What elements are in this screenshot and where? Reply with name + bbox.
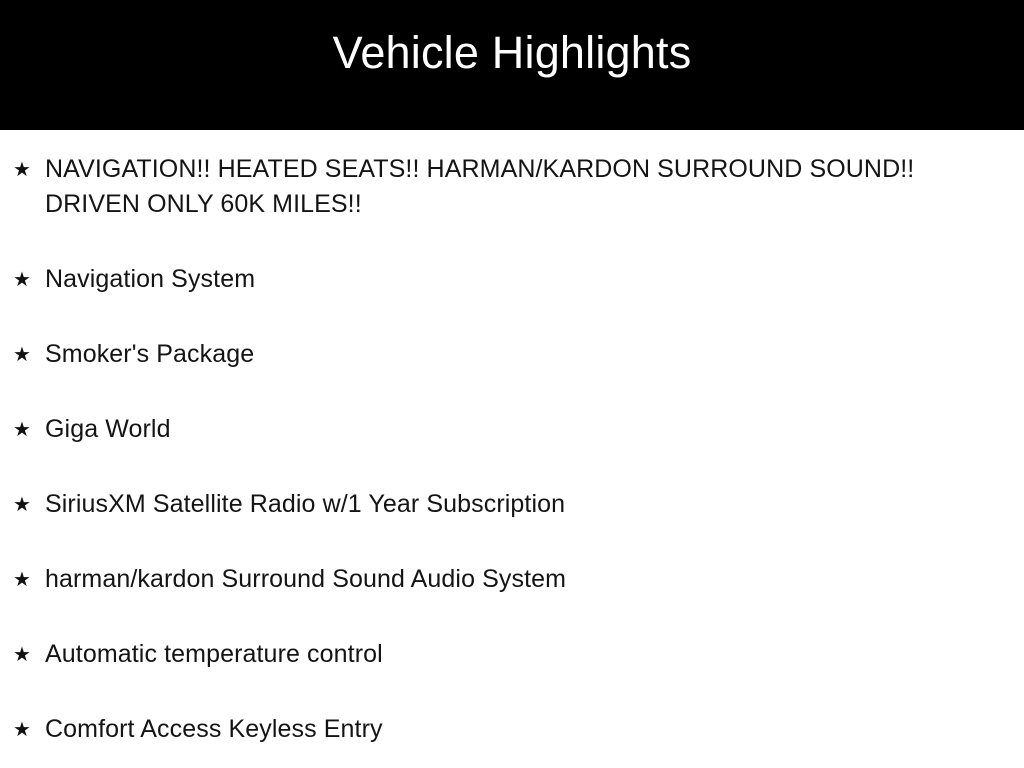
list-item: ★ Smoker's Package	[0, 337, 1024, 372]
highlight-label: Giga World	[45, 412, 964, 447]
highlight-label: NAVIGATION!! HEATED SEATS!! HARMAN/KARDO…	[45, 152, 950, 222]
list-item: ★ Comfort Access Keyless Entry	[0, 712, 1024, 747]
star-icon: ★	[13, 262, 35, 297]
star-icon: ★	[13, 562, 35, 597]
highlight-label: SiriusXM Satellite Radio w/1 Year Subscr…	[45, 487, 964, 522]
list-item: ★ SiriusXM Satellite Radio w/1 Year Subs…	[0, 487, 1024, 522]
highlight-label: Comfort Access Keyless Entry	[45, 712, 964, 747]
list-item: ★ Giga World	[0, 412, 1024, 447]
star-icon: ★	[13, 152, 35, 187]
highlight-label: harman/kardon Surround Sound Audio Syste…	[45, 562, 964, 597]
highlight-label: Smoker's Package	[45, 337, 964, 372]
highlight-label: Navigation System	[45, 262, 964, 297]
vehicle-highlights-list: ★ NAVIGATION!! HEATED SEATS!! HARMAN/KAR…	[0, 130, 1024, 747]
list-item: ★ Automatic temperature control	[0, 637, 1024, 672]
star-icon: ★	[13, 637, 35, 672]
page-title: Vehicle Highlights	[333, 30, 692, 75]
page-header-banner: Vehicle Highlights	[0, 0, 1024, 130]
list-item: ★ harman/kardon Surround Sound Audio Sys…	[0, 562, 1024, 597]
list-item: ★ Navigation System	[0, 262, 1024, 297]
star-icon: ★	[13, 412, 35, 447]
highlight-label: Automatic temperature control	[45, 637, 964, 672]
list-item: ★ NAVIGATION!! HEATED SEATS!! HARMAN/KAR…	[0, 152, 1024, 222]
star-icon: ★	[13, 337, 35, 372]
star-icon: ★	[13, 487, 35, 522]
star-icon: ★	[13, 712, 35, 747]
vehicle-highlights-page: Vehicle Highlights ★ NAVIGATION!! HEATED…	[0, 0, 1024, 768]
